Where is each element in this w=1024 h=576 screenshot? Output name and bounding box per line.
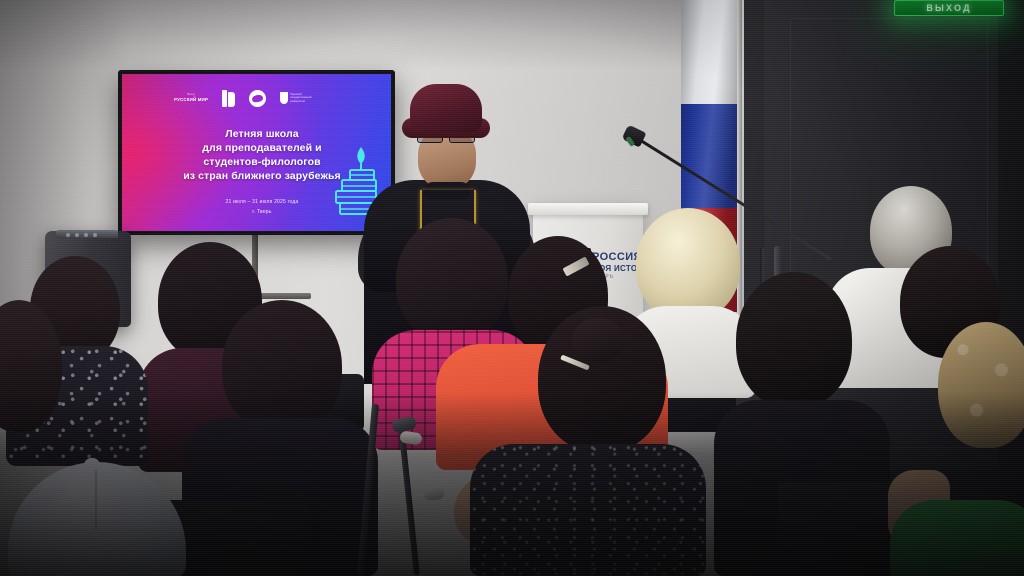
tvgu-line-3: университет <box>290 100 311 103</box>
presentation-display: Фонд РУССКИЙ МИР Тверской государственны… <box>118 70 395 235</box>
podium-top <box>528 203 648 215</box>
pa-speaker-controls <box>66 232 108 237</box>
russkiy-mir-main-text: РУССКИЙ МИР <box>174 98 208 102</box>
attendee-ponytail-right <box>736 272 852 408</box>
pa-knob-2 <box>75 233 79 237</box>
pa-knob-1 <box>66 233 70 237</box>
slide-logo-row: Фонд РУССКИЙ МИР Тверской государственны… <box>174 86 356 110</box>
book-logo-icon <box>222 90 235 107</box>
exit-sign-label: ВЫХОД <box>926 3 971 13</box>
pa-knob-4 <box>93 233 97 237</box>
circle-emblem-icon <box>249 90 266 107</box>
presentation-slide: Фонд РУССКИЙ МИР Тверской государственны… <box>122 74 391 231</box>
slide-title-line-1: Летняя школа <box>136 128 388 142</box>
hair-bun <box>572 318 624 362</box>
photo-scene: ВЫХОД Фонд РУССКИЙ МИР Тверской <box>0 0 1024 576</box>
tvgu-mark-icon <box>280 92 288 104</box>
exit-sign-icon: ВЫХОД <box>894 0 1004 16</box>
tvgu-logo: Тверской государственный университет <box>280 92 311 104</box>
foreground-shadow <box>0 392 1024 576</box>
pa-knob-3 <box>84 233 88 237</box>
attendee-blonde-elder <box>636 208 740 320</box>
russkiy-mir-logo: Фонд РУССКИЙ МИР <box>174 94 208 102</box>
tvgu-logo-text: Тверской государственный университет <box>290 93 311 102</box>
presenter-hat <box>410 84 482 132</box>
attendee-pink-check <box>396 218 508 342</box>
